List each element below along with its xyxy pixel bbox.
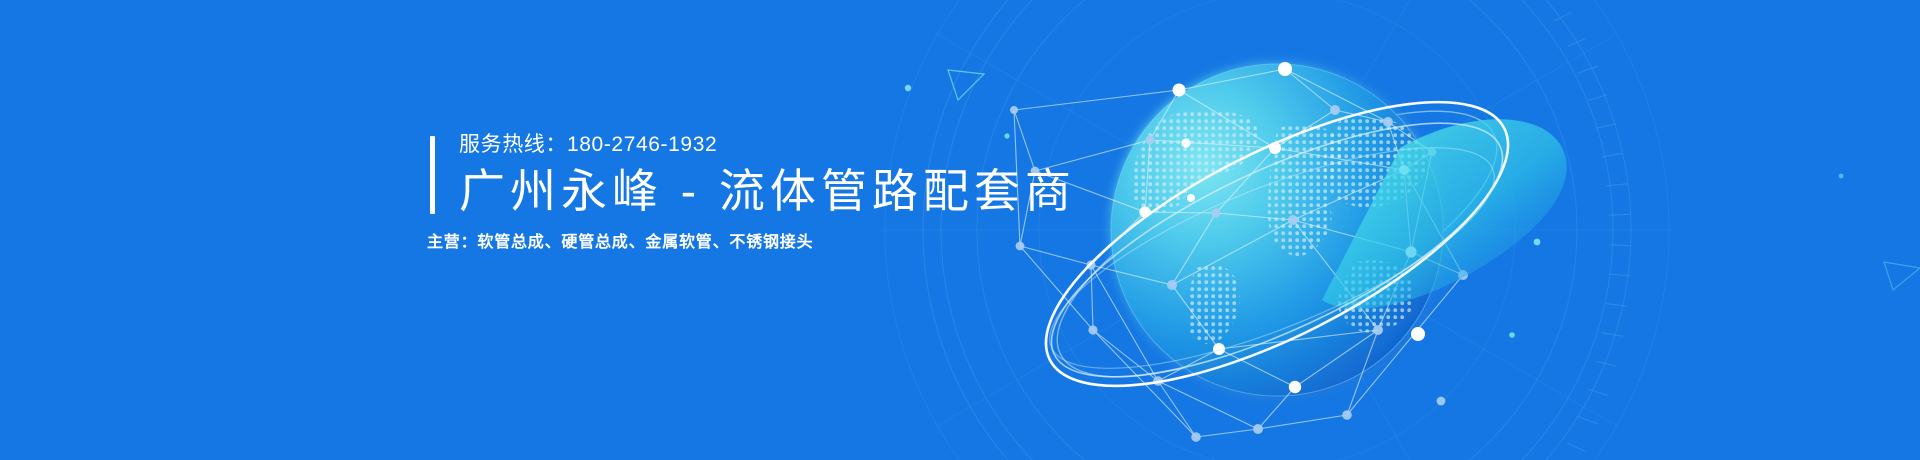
- accent-bar: [430, 136, 435, 214]
- banner-subtitle: 主营：软管总成、硬管总成、金属软管、不锈钢接头: [427, 232, 1076, 254]
- hero-banner: 服务热线：180-2746-1932 广州永峰 - 流体管路配套商 主营：软管总…: [0, 0, 1920, 460]
- banner-headline: 广州永峰 - 流体管路配套商: [459, 162, 1076, 220]
- banner-text-column: 服务热线：180-2746-1932 广州永峰 - 流体管路配套商 主营：软管总…: [459, 132, 1076, 254]
- banner-text-block: 服务热线：180-2746-1932 广州永峰 - 流体管路配套商 主营：软管总…: [430, 132, 1076, 254]
- service-hotline: 服务热线：180-2746-1932: [459, 132, 1076, 158]
